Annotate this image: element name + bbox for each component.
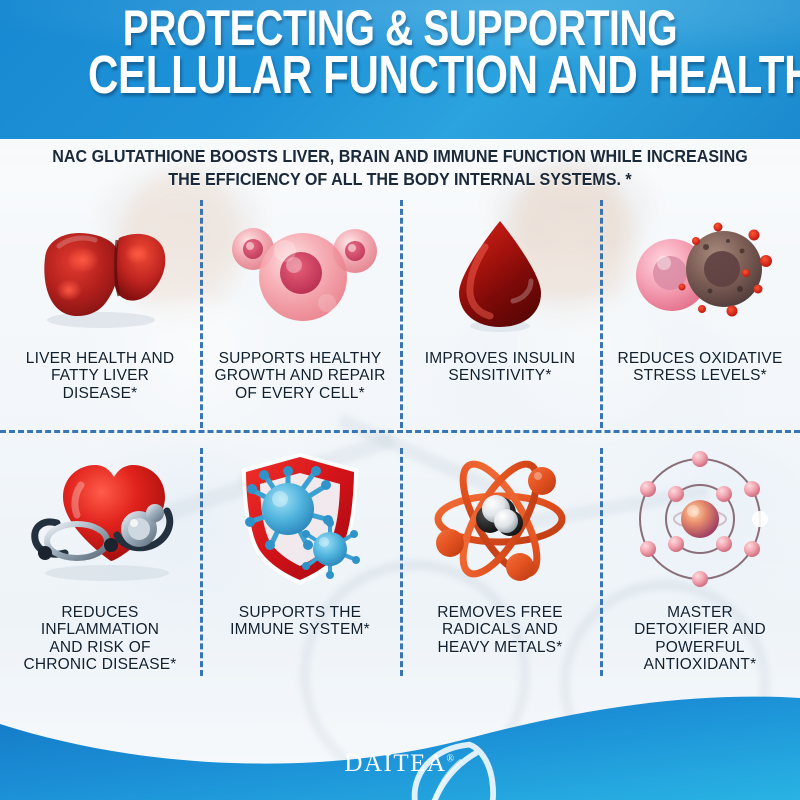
subtitle: NAC GLUTATHIONE BOOSTS LIVER, BRAIN AND … bbox=[32, 145, 768, 191]
shield-virus-icon bbox=[200, 440, 400, 598]
benefit-cell-inflammation: REDUCESINFLAMMATIONAND RISK OFCHRONIC DI… bbox=[0, 440, 200, 680]
title-line-1: PROTECTING & SUPPORTING bbox=[88, 4, 712, 52]
footer-wave: DAITEA® bbox=[0, 680, 800, 800]
subtitle-line-2: THE EFFICIENCY OF ALL THE BODY INTERNAL … bbox=[32, 168, 768, 191]
bohr-atom-icon bbox=[600, 440, 800, 598]
benefit-cell-cells: SUPPORTS HEALTHYGROWTH AND REPAIROF EVER… bbox=[200, 200, 400, 440]
benefit-caption: LIVER HEALTH ANDFATTY LIVERDISEASE* bbox=[20, 350, 180, 402]
oxidative-cells-icon bbox=[600, 200, 800, 350]
benefit-caption: IMPROVES INSULINSENSITIVITY* bbox=[419, 350, 581, 385]
blood-drop-icon bbox=[400, 200, 600, 350]
benefit-caption: REDUCESINFLAMMATIONAND RISK OFCHRONIC DI… bbox=[17, 604, 182, 673]
benefit-caption: REDUCES OXIDATIVESTRESS LEVELS* bbox=[611, 350, 788, 385]
benefit-cell-insulin: IMPROVES INSULINSENSITIVITY* bbox=[400, 200, 600, 440]
benefit-caption: REMOVES FREERADICALS ANDHEAVY METALS* bbox=[431, 604, 569, 656]
page-title: PROTECTING & SUPPORTING CELLULAR FUNCTIO… bbox=[0, 4, 800, 102]
liver-icon bbox=[0, 200, 200, 350]
atom-orbit-icon bbox=[400, 440, 600, 598]
header-banner: PROTECTING & SUPPORTING CELLULAR FUNCTIO… bbox=[0, 0, 800, 139]
benefit-caption: SUPPORTS HEALTHYGROWTH AND REPAIROF EVER… bbox=[208, 350, 391, 402]
cells-icon bbox=[200, 200, 400, 350]
benefit-cell-immune: SUPPORTS THEIMMUNE SYSTEM* bbox=[200, 440, 400, 680]
benefits-grid: LIVER HEALTH ANDFATTY LIVERDISEASE* bbox=[0, 200, 800, 680]
heart-stethoscope-icon bbox=[0, 440, 200, 598]
benefit-caption: SUPPORTS THEIMMUNE SYSTEM* bbox=[224, 604, 376, 639]
subtitle-line-1: NAC GLUTATHIONE BOOSTS LIVER, BRAIN AND … bbox=[32, 145, 768, 168]
benefit-caption: MASTERDETOXIFIER ANDPOWERFULANTIOXIDANT* bbox=[628, 604, 772, 673]
infographic-poster: PROTECTING & SUPPORTING CELLULAR FUNCTIO… bbox=[0, 0, 800, 800]
benefit-cell-antioxidant: MASTERDETOXIFIER ANDPOWERFULANTIOXIDANT* bbox=[600, 440, 800, 680]
title-line-2: CELLULAR FUNCTION AND HEALTH* bbox=[88, 50, 712, 102]
benefit-cell-liver: LIVER HEALTH ANDFATTY LIVERDISEASE* bbox=[0, 200, 200, 440]
benefit-cell-oxidative: REDUCES OXIDATIVESTRESS LEVELS* bbox=[600, 200, 800, 440]
benefit-cell-free-radicals: REMOVES FREERADICALS ANDHEAVY METALS* bbox=[400, 440, 600, 680]
